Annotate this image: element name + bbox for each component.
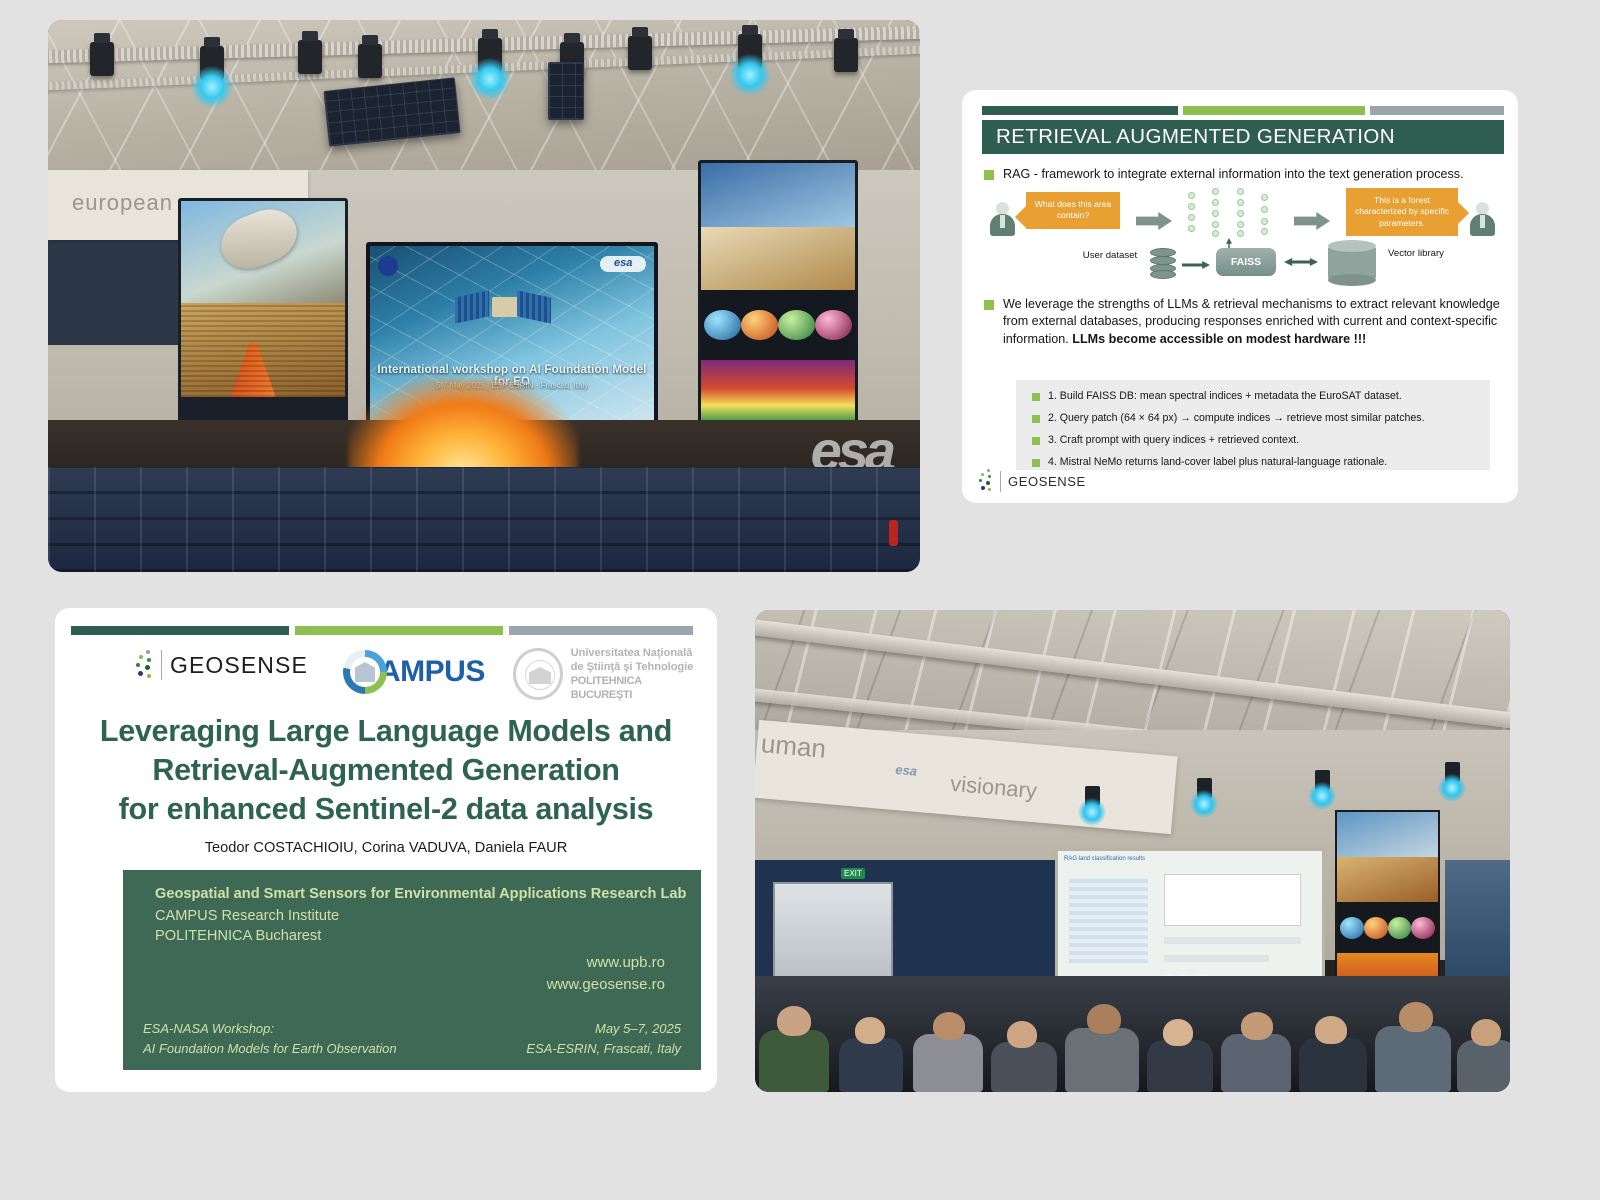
bullet-square-icon bbox=[984, 170, 994, 180]
screen-heading: RAG land classification results bbox=[1064, 856, 1145, 862]
attendee bbox=[839, 1038, 903, 1092]
title-line-3: for enhanced Sentinel-2 data analysis bbox=[81, 790, 691, 829]
affiliation-box: Geospatial and Smart Sensors for Environ… bbox=[123, 870, 701, 1070]
glass-door bbox=[773, 882, 893, 982]
faiss-node: FAISS bbox=[1216, 248, 1276, 276]
rocket-photo bbox=[181, 303, 345, 397]
slide-retrieval-augmented-generation: RETRIEVAL AUGMENTED GENERATION RAG - fra… bbox=[962, 90, 1518, 503]
vector-library-icon bbox=[1328, 246, 1376, 280]
url-upb[interactable]: www.upb.ro bbox=[587, 954, 665, 971]
display-tile bbox=[1337, 812, 1438, 857]
stage-light bbox=[738, 34, 762, 68]
logo-geosense: GEOSENSE bbox=[135, 650, 308, 680]
upb-building-icon bbox=[529, 667, 551, 684]
vector-library-label: Vector library bbox=[1388, 248, 1452, 260]
attendee bbox=[1457, 1040, 1510, 1092]
wall-word: european bbox=[72, 190, 173, 216]
attendee-head bbox=[933, 1012, 965, 1040]
stage-light bbox=[1197, 778, 1212, 798]
attendee bbox=[1375, 1026, 1451, 1092]
fire-extinguisher bbox=[889, 520, 898, 546]
globe-thumb bbox=[704, 310, 741, 340]
attendee-head bbox=[1087, 1004, 1121, 1034]
screen-line bbox=[1164, 937, 1301, 944]
attendee-head bbox=[1163, 1019, 1193, 1046]
campus-wordmark: AMPUS bbox=[379, 655, 485, 689]
university-name: POLITEHNICA Bucharest bbox=[155, 928, 321, 944]
attendee-head bbox=[777, 1006, 811, 1036]
bullet-square-icon bbox=[1032, 393, 1040, 401]
attendee-head bbox=[1471, 1019, 1501, 1046]
attendee-head bbox=[1007, 1021, 1037, 1048]
title-line-1: Leveraging Large Language Models and bbox=[81, 712, 691, 751]
globe-thumb bbox=[1388, 917, 1412, 939]
attendee bbox=[759, 1030, 829, 1092]
neural-network-icon bbox=[1188, 190, 1270, 236]
workshop-subtitle: AI Foundation Models for Earth Observati… bbox=[143, 1041, 397, 1056]
logo-campus: AMPUS bbox=[343, 650, 485, 694]
attendee-head bbox=[1399, 1002, 1433, 1032]
author-list: Teodor COSTACHIOIU, Corina VADUVA, Danie… bbox=[55, 840, 717, 856]
arrow-right-icon bbox=[1294, 212, 1330, 230]
geosense-dots-icon bbox=[135, 650, 153, 680]
upb-seal-icon bbox=[513, 648, 563, 700]
workshop-name: ESA-NASA Workshop: bbox=[143, 1021, 274, 1036]
upb-line-1: Universitatea Naţională bbox=[571, 646, 699, 660]
bullet-square-icon bbox=[1032, 415, 1040, 423]
hanging-speaker bbox=[548, 62, 584, 120]
answer-callout: This is a forest characterized by specif… bbox=[1346, 188, 1458, 236]
rocket bbox=[230, 343, 276, 399]
stage-light bbox=[834, 38, 858, 72]
step-item: 1. Build FAISS DB: mean spectral indices… bbox=[1032, 390, 1402, 402]
campus-ring-icon bbox=[343, 650, 387, 694]
bullet-square-icon bbox=[1032, 437, 1040, 445]
presentation-title: Leveraging Large Language Models and Ret… bbox=[81, 712, 691, 829]
accent-bar-light-green bbox=[1183, 106, 1365, 115]
screen-line bbox=[1164, 955, 1270, 962]
accent-bar-dark-green bbox=[982, 106, 1178, 115]
geosense-wordmark: GEOSENSE bbox=[170, 652, 308, 679]
workshop-venue: ESA-ESRIN, Frascati, Italy bbox=[526, 1041, 681, 1056]
bullet-text: RAG - framework to integrate external in… bbox=[1003, 166, 1464, 183]
slide-accent-bars bbox=[71, 626, 693, 635]
geosense-dots-icon bbox=[978, 469, 993, 493]
display-tile bbox=[1337, 902, 1438, 953]
screen-image bbox=[1069, 877, 1148, 963]
bullet-item: RAG - framework to integrate external in… bbox=[984, 166, 1504, 183]
accent-bar-grey bbox=[509, 626, 693, 635]
stage-light bbox=[1315, 770, 1330, 790]
attendee bbox=[991, 1042, 1057, 1092]
display-tile bbox=[701, 163, 855, 227]
campus-building-icon bbox=[355, 662, 375, 682]
attendee bbox=[1065, 1028, 1139, 1092]
collage-canvas: european International workshop on AI Fo… bbox=[0, 0, 1600, 1200]
display-right bbox=[1335, 810, 1440, 1000]
attendee bbox=[1147, 1040, 1213, 1092]
globe-thumb bbox=[1364, 917, 1388, 939]
upb-line-2: de Ştiinţă şi Tehnologie bbox=[571, 660, 699, 674]
display-tile bbox=[701, 227, 855, 291]
step-item: 3. Craft prompt with query indices + ret… bbox=[1032, 434, 1299, 446]
stage-light bbox=[298, 40, 322, 74]
wall-word-1: uman bbox=[760, 728, 828, 765]
step-text: 1. Build FAISS DB: mean spectral indices… bbox=[1048, 390, 1402, 402]
lab-name: Geospatial and Smart Sensors for Environ… bbox=[155, 886, 686, 902]
globe-thumb bbox=[815, 310, 852, 340]
institute-name: CAMPUS Research Institute bbox=[155, 908, 339, 924]
bullet-square-icon bbox=[984, 300, 994, 310]
geosense-wordmark: GEOSENSE bbox=[1008, 474, 1086, 489]
url-geosense[interactable]: www.geosense.ro bbox=[547, 976, 665, 993]
globe-thumb bbox=[778, 310, 815, 340]
stage-light bbox=[478, 38, 502, 72]
upb-line-3: POLITEHNICA BUCUREŞTI bbox=[571, 674, 699, 702]
step-text: 4. Mistral NeMo returns land-cover label… bbox=[1048, 456, 1387, 468]
globe-thumb bbox=[1411, 917, 1435, 939]
rag-pipeline-diagram: What does this area contain? This is a f… bbox=[984, 188, 1500, 284]
dish-photo bbox=[181, 201, 345, 303]
step-item: 4. Mistral NeMo returns land-cover label… bbox=[1032, 456, 1387, 468]
accent-bar-light-green bbox=[295, 626, 503, 635]
arrow-both-icon bbox=[1284, 258, 1318, 266]
attendee bbox=[1221, 1034, 1291, 1092]
logo-politehnica: Universitatea Naţională de Ştiinţă şi Te… bbox=[513, 646, 699, 702]
title-line-2: Retrieval-Augmented Generation bbox=[81, 751, 691, 790]
step-item: 2. Query patch (64 × 64 px) → compute in… bbox=[1032, 412, 1425, 424]
antenna-dish bbox=[213, 201, 305, 278]
stage-light bbox=[1445, 762, 1460, 782]
photo-audience-conference: uman esa visionary EXIT RAG land classif… bbox=[755, 610, 1510, 1092]
auditorium-seating bbox=[48, 467, 920, 572]
arrow-right-icon bbox=[1136, 212, 1172, 230]
logo-row: GEOSENSE AMPUS Universitatea Naţională d… bbox=[73, 642, 699, 704]
globe-thumb bbox=[1340, 917, 1364, 939]
bullet-text-bold: LLMs become accessible on modest hardwar… bbox=[1072, 332, 1366, 346]
user-dataset-label: User dataset bbox=[1080, 250, 1140, 262]
stage-light bbox=[90, 42, 114, 76]
database-stack-icon bbox=[1150, 248, 1176, 278]
exit-sign: EXIT bbox=[841, 868, 865, 879]
step-text: 3. Craft prompt with query indices + ret… bbox=[1048, 434, 1299, 446]
attendee-head bbox=[855, 1017, 885, 1044]
audience-seating bbox=[755, 976, 1510, 1092]
divider bbox=[1000, 471, 1001, 492]
accent-bar-dark-green bbox=[71, 626, 289, 635]
step-text: 2. Query patch (64 × 64 px) → compute in… bbox=[1048, 412, 1425, 424]
accent-bar-grey bbox=[1370, 106, 1504, 115]
stage-light bbox=[358, 44, 382, 78]
user-avatar-icon bbox=[1470, 202, 1495, 236]
display-tile bbox=[1337, 857, 1438, 902]
steps-box: 1. Build FAISS DB: mean spectral indices… bbox=[1016, 380, 1490, 470]
esa-logo bbox=[600, 256, 646, 272]
slide-title: RETRIEVAL AUGMENTED GENERATION bbox=[982, 120, 1504, 154]
esa-wall-logo: esa bbox=[895, 762, 918, 779]
attendee bbox=[1299, 1038, 1367, 1092]
display-tile-falsecolour bbox=[701, 360, 855, 424]
slide-accent-bars bbox=[982, 106, 1504, 115]
upb-wordmark: Universitatea Naţională de Ştiinţă şi Te… bbox=[571, 646, 699, 702]
bullet-square-icon bbox=[1032, 459, 1040, 467]
satellite-illustration bbox=[455, 287, 551, 331]
arrow-right-icon bbox=[1182, 261, 1210, 269]
screen-plot bbox=[1164, 874, 1301, 926]
nasa-logo bbox=[378, 256, 398, 276]
geosense-footer-logo: GEOSENSE bbox=[978, 469, 1086, 493]
stage-light bbox=[200, 46, 224, 80]
slide-presentation-title: GEOSENSE AMPUS Universitatea Naţională d… bbox=[55, 608, 717, 1092]
query-callout: What does this area contain? bbox=[1026, 192, 1120, 229]
attendee-head bbox=[1241, 1012, 1273, 1040]
stage-light bbox=[1085, 786, 1100, 806]
wall-word-2: visionary bbox=[949, 771, 1038, 804]
workshop-dates: May 5–7, 2025 bbox=[595, 1021, 681, 1036]
photo-group-conference: european International workshop on AI Fo… bbox=[48, 20, 920, 572]
attendee-head bbox=[1315, 1016, 1347, 1044]
globe-thumb bbox=[741, 310, 778, 340]
attendee bbox=[913, 1034, 983, 1092]
stage-light bbox=[628, 36, 652, 70]
divider bbox=[161, 650, 162, 680]
user-avatar-icon bbox=[990, 202, 1015, 236]
display-tile bbox=[701, 290, 855, 360]
bullet-item: We leverage the strengths of LLMs & retr… bbox=[984, 296, 1504, 348]
